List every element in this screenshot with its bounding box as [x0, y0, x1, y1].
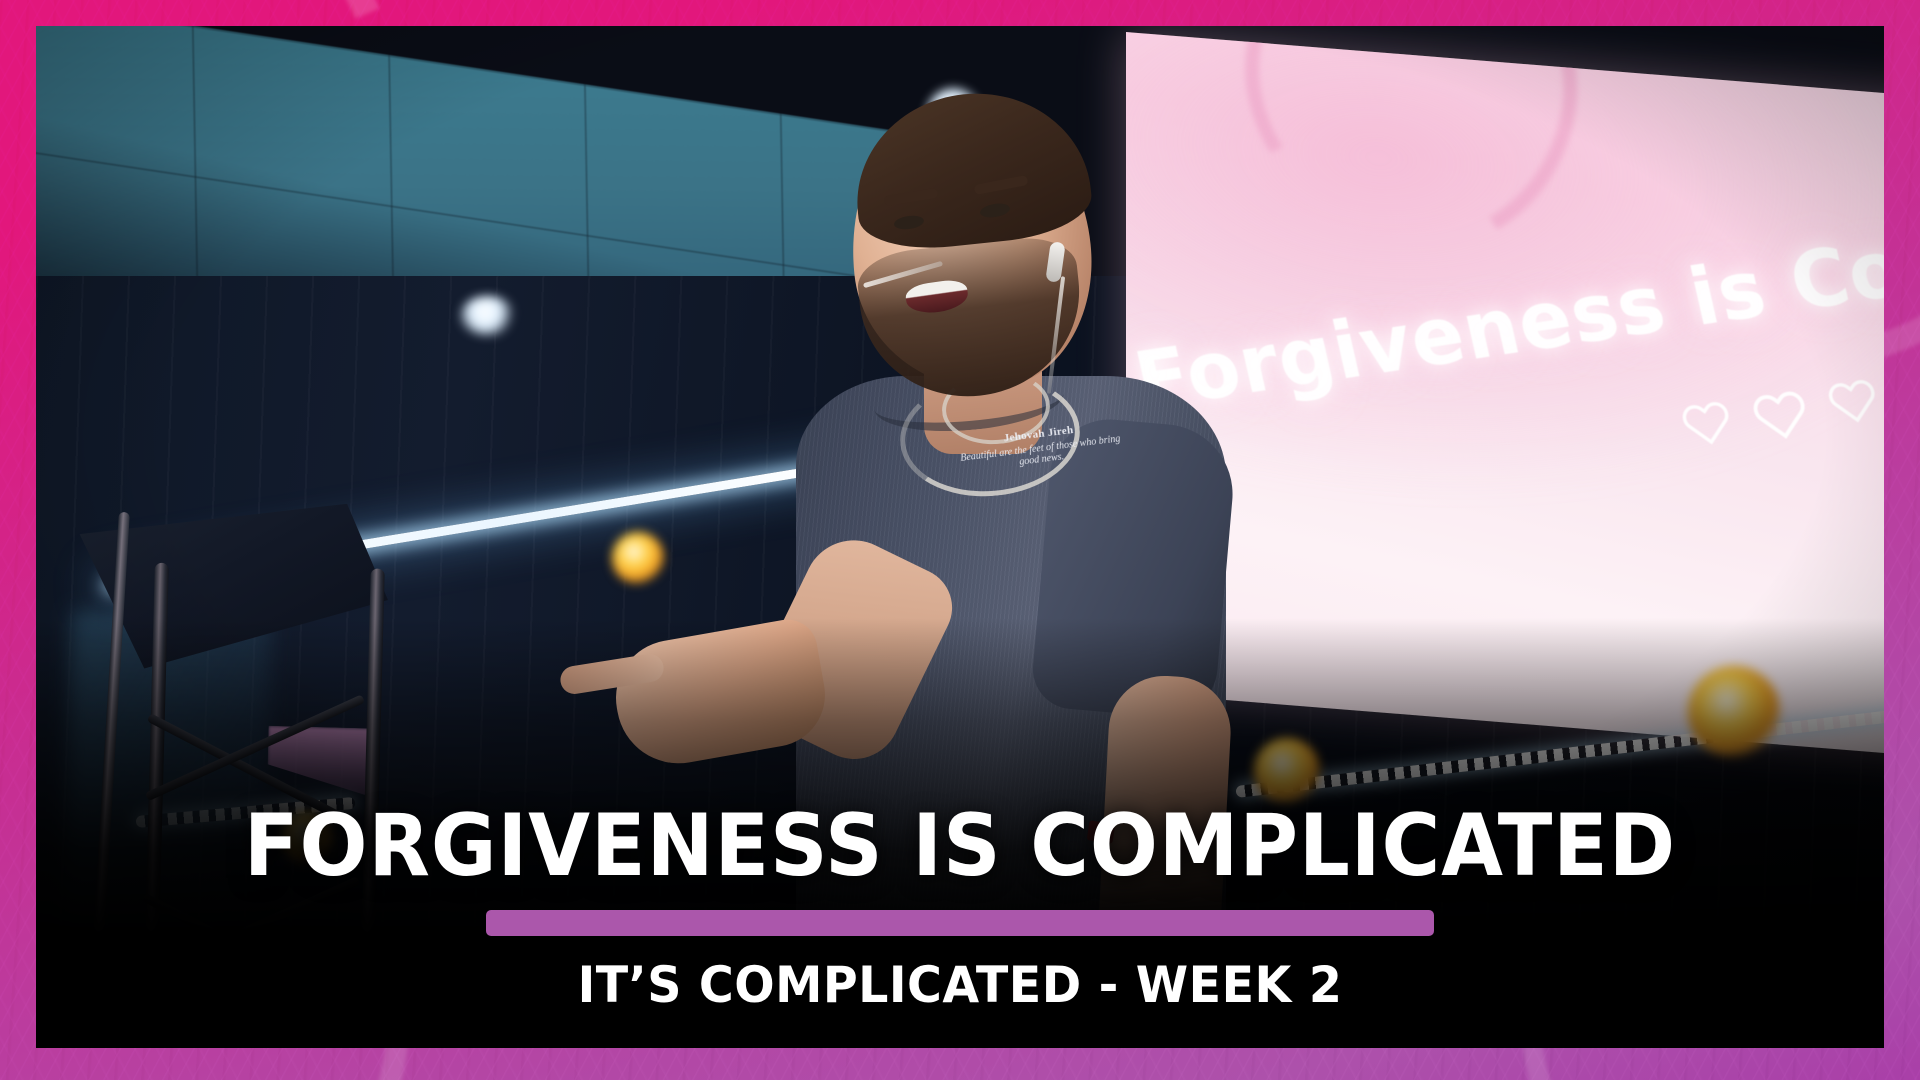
pink-painted-border-frame: Forgiveness is Co: [0, 0, 1920, 1080]
purple-divider-bar: [486, 910, 1434, 936]
title-block: FORGIVENESS IS COMPLICATED IT’S COMPLICA…: [36, 805, 1884, 1014]
stage-photograph: Forgiveness is Co: [36, 26, 1884, 1048]
series-subtitle: IT’S COMPLICATED - WEEK 2: [82, 956, 1838, 1014]
sermon-title: FORGIVENESS IS COMPLICATED: [101, 805, 1820, 888]
